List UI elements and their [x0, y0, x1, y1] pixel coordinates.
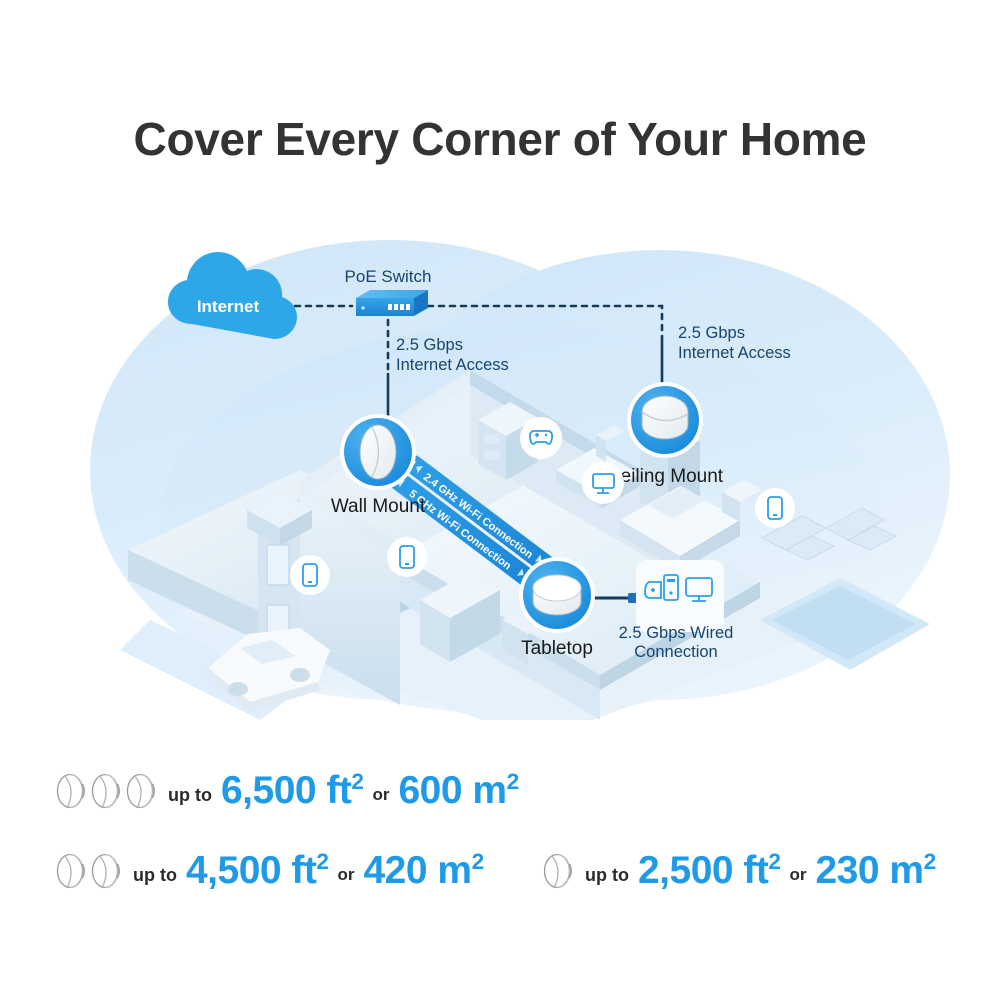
- device-icon-gamepad: [520, 417, 562, 459]
- deco-unit-icon: [126, 771, 158, 811]
- deco-unit-icons: [543, 851, 575, 891]
- poe-switch-label: PoE Switch: [345, 267, 432, 286]
- coverage-or-label: or: [789, 865, 806, 885]
- coverage-upto-label: up to: [168, 785, 212, 806]
- coverage-row: up to 6,500 ft2 or 600 m2: [56, 769, 519, 813]
- deco-unit-icon: [543, 851, 575, 891]
- wired-devices-card: [636, 560, 724, 632]
- deco-unit-icon: [56, 851, 88, 891]
- deco-unit-icon: [91, 771, 123, 811]
- coverage-upto-label: up to: [133, 865, 177, 886]
- wall-mount-node: [340, 414, 416, 490]
- svg-text:2.5 Gbps Wired: 2.5 Gbps Wired: [619, 624, 734, 642]
- poe-switch: [356, 290, 428, 316]
- home-coverage-illustration: Internet PoE Switch 2.5 Gbps Internet Ac…: [0, 220, 1000, 720]
- svg-text:2.5 Gbps: 2.5 Gbps: [396, 336, 463, 354]
- coverage-row: up to 4,500 ft2 or 420 m2: [56, 849, 484, 893]
- device-icon-phone-garage: [290, 555, 330, 595]
- svg-text:Internet Access: Internet Access: [396, 356, 509, 374]
- coverage-sqft: 2,500 ft2: [638, 849, 780, 893]
- coverage-or-label: or: [337, 865, 354, 885]
- tabletop-node: [519, 557, 595, 633]
- svg-text:2.5 Gbps: 2.5 Gbps: [678, 324, 745, 342]
- deco-unit-icons: [56, 851, 123, 891]
- coverage-sqft: 6,500 ft2: [221, 769, 363, 813]
- coverage-sqft: 4,500 ft2: [186, 849, 328, 893]
- wall-mount-label: Wall Mount: [331, 496, 426, 517]
- coverage-row: up to 2,500 ft2 or 230 m2: [543, 849, 936, 893]
- coverage-sqm: 230 m2: [815, 849, 935, 893]
- svg-text:Internet Access: Internet Access: [678, 344, 791, 362]
- svg-text:Connection: Connection: [634, 643, 717, 661]
- tabletop-label: Tabletop: [521, 638, 593, 659]
- coverage-sqm: 600 m2: [398, 769, 518, 813]
- wired-connection-label: 2.5 Gbps Wired Connection: [619, 624, 734, 661]
- coverage-or-label: or: [372, 785, 389, 805]
- deco-unit-icons: [56, 771, 158, 811]
- deco-unit-icon: [56, 771, 88, 811]
- coverage-upto-label: up to: [585, 865, 629, 886]
- page-title: Cover Every Corner of Your Home: [0, 112, 1000, 166]
- deco-unit-icon: [91, 851, 123, 891]
- ceiling-mount-label: Ceiling Mount: [607, 466, 724, 487]
- coverage-sqm: 420 m2: [363, 849, 483, 893]
- ceiling-mount-node: [627, 382, 703, 458]
- coverage-summary: up to 6,500 ft2 or 600 m2 up to 4,500 ft…: [0, 755, 1000, 925]
- internet-label: Internet: [197, 297, 260, 316]
- device-icon-monitor: [582, 462, 624, 504]
- device-icon-phone-pool: [755, 488, 795, 528]
- device-icon-phone-bedroom: [387, 537, 427, 577]
